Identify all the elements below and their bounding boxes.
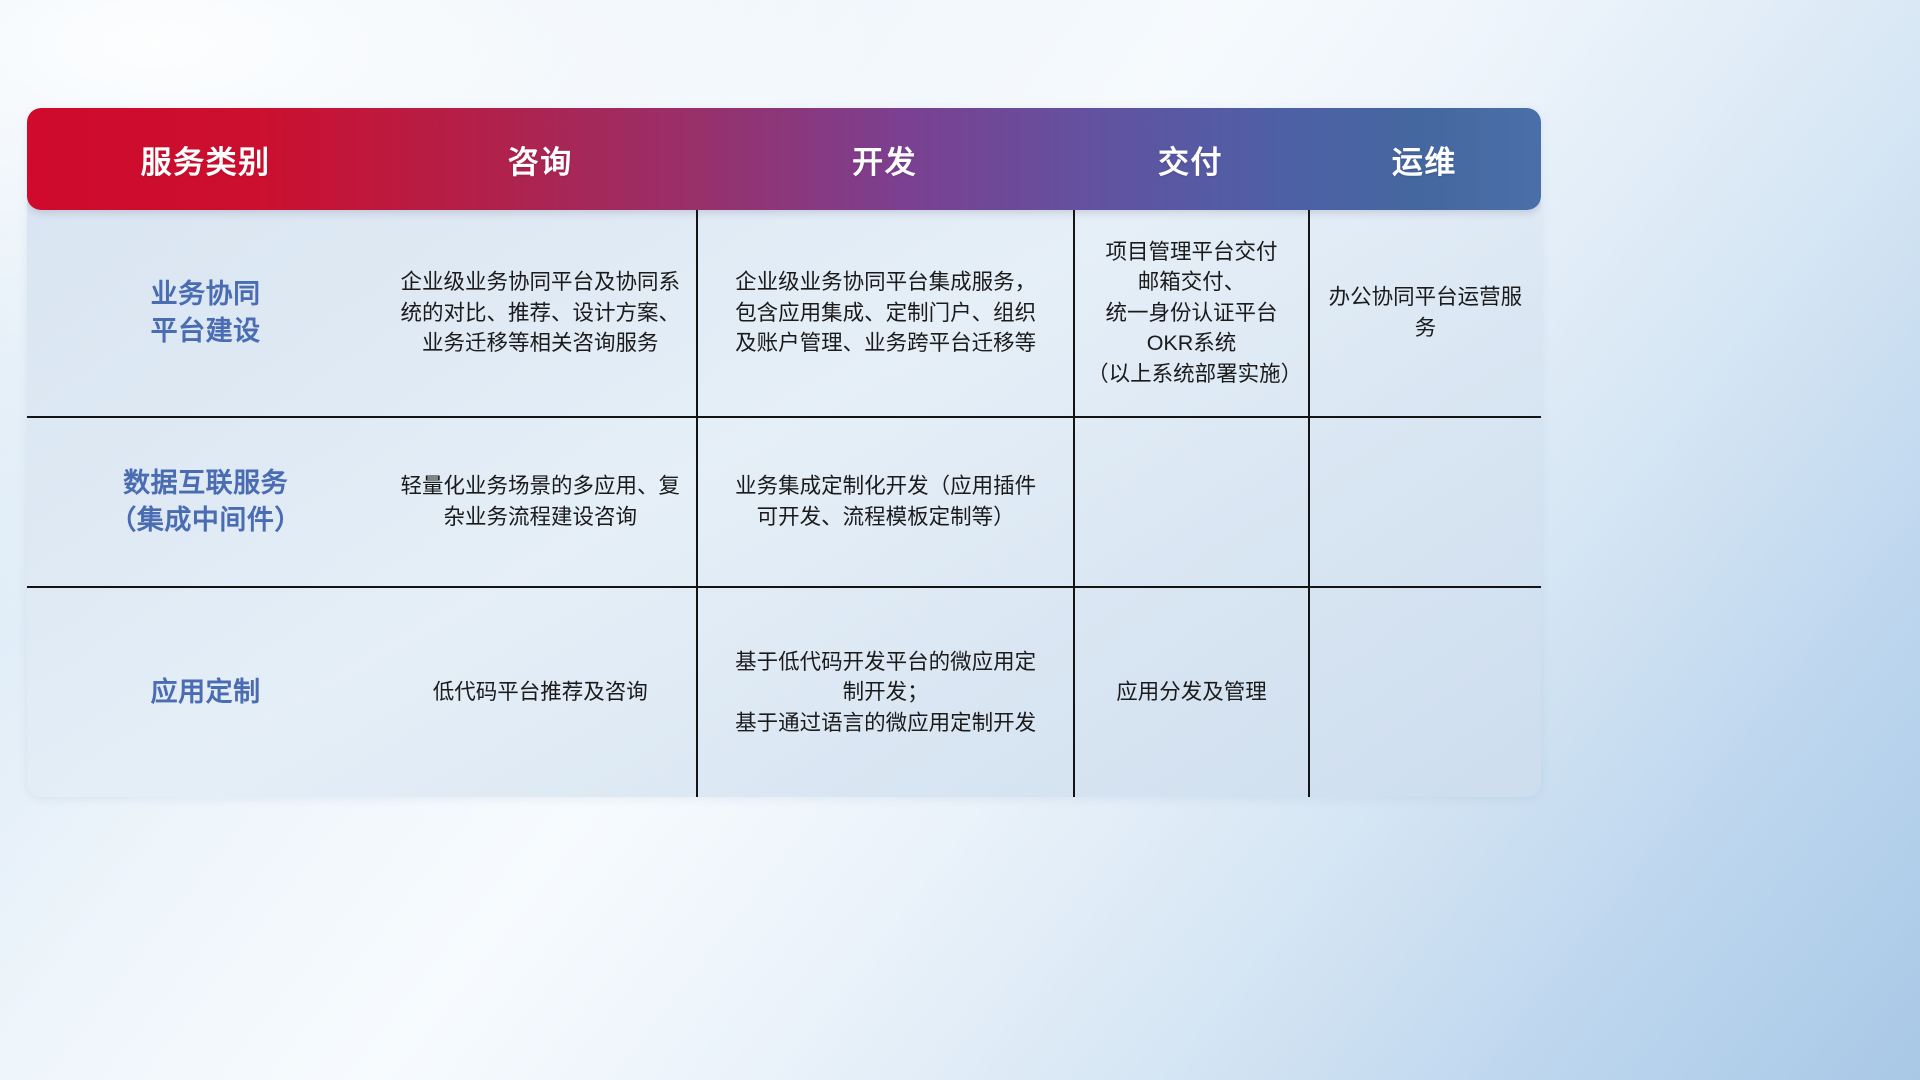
service-matrix-table: 服务类别 咨询 开发 交付 运维 业务协同 平台建设 企业级业务协同平台及协同系… — [27, 108, 1541, 797]
column-header-development: 开发 — [696, 108, 1073, 210]
cell-consulting: 企业级业务协同平台及协同系 统的对比、推荐、设计方案、 业务迁移等相关咨询服务 — [384, 210, 696, 416]
cell-category: 业务协同 平台建设 — [27, 210, 384, 416]
column-header-delivery: 交付 — [1073, 108, 1308, 210]
cell-operations — [1308, 588, 1541, 797]
table-row: 业务协同 平台建设 企业级业务协同平台及协同系 统的对比、推荐、设计方案、 业务… — [27, 210, 1541, 418]
cell-delivery: 项目管理平台交付 邮箱交付、 统一身份认证平台 OKR系统 （以上系统部署实施） — [1073, 210, 1308, 416]
column-header-service-category: 服务类别 — [27, 108, 384, 210]
cell-delivery — [1073, 418, 1308, 586]
table-body: 业务协同 平台建设 企业级业务协同平台及协同系 统的对比、推荐、设计方案、 业务… — [27, 210, 1541, 797]
cell-category: 应用定制 — [27, 588, 384, 797]
cell-development: 基于低代码开发平台的微应用定 制开发； 基于通过语言的微应用定制开发 — [696, 588, 1073, 797]
cell-category: 数据互联服务 （集成中间件） — [27, 418, 384, 586]
column-header-consulting: 咨询 — [384, 108, 696, 210]
table-header-row: 服务类别 咨询 开发 交付 运维 — [27, 108, 1541, 210]
cell-consulting: 轻量化业务场景的多应用、复 杂业务流程建设咨询 — [384, 418, 696, 586]
cell-delivery: 应用分发及管理 — [1073, 588, 1308, 797]
cell-development: 企业级业务协同平台集成服务， 包含应用集成、定制门户、组织 及账户管理、业务跨平… — [696, 210, 1073, 416]
cell-operations: 办公协同平台运营服务 — [1308, 210, 1541, 416]
cell-development: 业务集成定制化开发（应用插件 可开发、流程模板定制等） — [696, 418, 1073, 586]
table-row: 应用定制 低代码平台推荐及咨询 基于低代码开发平台的微应用定 制开发； 基于通过… — [27, 588, 1541, 797]
table-row: 数据互联服务 （集成中间件） 轻量化业务场景的多应用、复 杂业务流程建设咨询 业… — [27, 418, 1541, 588]
cell-operations — [1308, 418, 1541, 586]
column-header-operations: 运维 — [1308, 108, 1541, 210]
cell-consulting: 低代码平台推荐及咨询 — [384, 588, 696, 797]
